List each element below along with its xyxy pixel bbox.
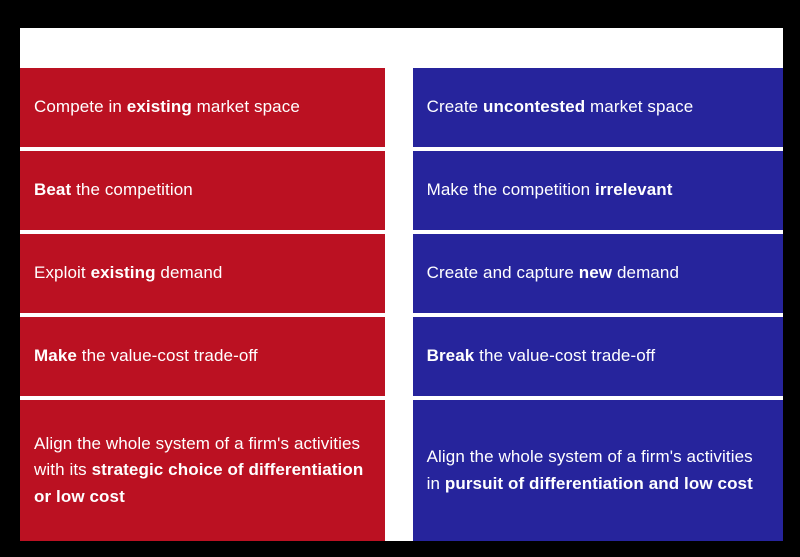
red-strategy-cell: Beat the competition [20, 151, 385, 230]
cell-text: Align the whole system of a firm's activ… [427, 444, 769, 497]
column-divider [385, 400, 413, 541]
cell-text: Exploit existing demand [34, 260, 222, 286]
cell-text-emphasis: existing [91, 263, 156, 282]
cell-text: Break the value-cost trade-off [427, 343, 656, 369]
column-divider [385, 234, 413, 313]
cell-text: Create and capture new demand [427, 260, 679, 286]
cell-text-plain-trailing: demand [156, 263, 223, 282]
cell-text: Create uncontested market space [427, 94, 694, 120]
cell-text-emphasis: new [579, 263, 612, 282]
cell-text: Make the value-cost trade-off [34, 343, 258, 369]
red-strategy-cell: Align the whole system of a firm's activ… [20, 400, 385, 541]
blue-strategy-cell: Break the value-cost trade-off [413, 317, 783, 396]
blue-strategy-cell: Create and capture new demand [413, 234, 783, 313]
cell-text-plain-trailing: the competition [71, 180, 193, 199]
cell-text-plain-leading: Make the competition [427, 180, 595, 199]
blue-strategy-cell: Create uncontested market space [413, 68, 783, 147]
cell-text-plain-leading: Compete in [34, 97, 127, 116]
comparison-table-card: Compete in existing market space Create … [20, 28, 783, 537]
cell-text: Beat the competition [34, 177, 193, 203]
cell-text-plain-trailing: market space [585, 97, 693, 116]
column-divider [385, 151, 413, 230]
cell-text-plain-trailing: demand [612, 263, 679, 282]
table-row: Exploit existing demand Create and captu… [20, 234, 783, 313]
screenshot-root: Compete in existing market space Create … [0, 0, 800, 557]
cell-text-emphasis: pursuit of differentiation and low cost [445, 474, 753, 493]
column-divider [385, 317, 413, 396]
table-header-strip [20, 28, 783, 68]
cell-text-plain-leading: Exploit [34, 263, 91, 282]
blue-strategy-cell: Align the whole system of a firm's activ… [413, 400, 783, 541]
comparison-grid: Compete in existing market space Create … [20, 68, 783, 537]
cell-text-emphasis: Beat [34, 180, 71, 199]
cell-text-plain-trailing: the value-cost trade-off [77, 346, 258, 365]
cell-text-emphasis: Make [34, 346, 77, 365]
cell-text: Align the whole system of a firm's activ… [34, 431, 371, 510]
cell-text-emphasis: Break [427, 346, 475, 365]
cell-text-plain-trailing: the value-cost trade-off [474, 346, 655, 365]
cell-text: Compete in existing market space [34, 94, 300, 120]
red-strategy-cell: Compete in existing market space [20, 68, 385, 147]
red-strategy-cell: Exploit existing demand [20, 234, 385, 313]
cell-text-emphasis: irrelevant [595, 180, 673, 199]
cell-text-emphasis: existing [127, 97, 192, 116]
table-row: Make the value-cost trade-off Break the … [20, 317, 783, 396]
blue-strategy-cell: Make the competition irrelevant [413, 151, 783, 230]
table-row: Compete in existing market space Create … [20, 68, 783, 147]
cell-text-plain-trailing: market space [192, 97, 300, 116]
cell-text-plain-leading: Create [427, 97, 483, 116]
table-row: Beat the competition Make the competitio… [20, 151, 783, 230]
column-divider [385, 68, 413, 147]
cell-text-plain-leading: Create and capture [427, 263, 579, 282]
red-strategy-cell: Make the value-cost trade-off [20, 317, 385, 396]
cell-text-emphasis: uncontested [483, 97, 585, 116]
table-row: Align the whole system of a firm's activ… [20, 400, 783, 541]
cell-text: Make the competition irrelevant [427, 177, 673, 203]
